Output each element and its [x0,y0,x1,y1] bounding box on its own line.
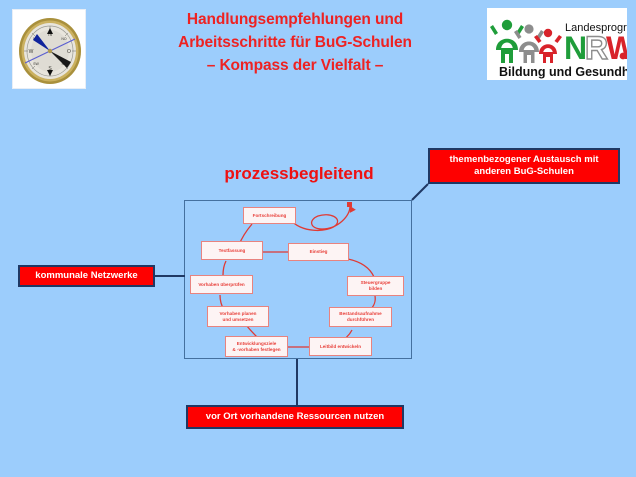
cycle-step-label: Textfassung [219,248,246,254]
cycle-step-label: Leitbild entwickeln [320,344,361,350]
cycle-step-vorhaben-planen[interactable]: Vorhaben planen und umsetzen [207,306,269,327]
cycle-step-label: Vorhaben überprüfen [198,282,244,288]
connector-left [155,275,185,277]
cycle-step-steuergruppe[interactable]: Steuergruppe bilden [347,276,404,296]
nrw-logo-icon: Landesprogramm N R W Bildung und Gesundh… [487,8,627,80]
svg-text:N: N [564,30,587,66]
svg-text:NO: NO [61,37,67,41]
svg-text:O: O [67,49,71,55]
page-title-line-2: Arbeitsschritte für BuG-Schulen [120,31,470,54]
process-label: prozessbegleitend [184,164,414,184]
callout-topic-line-1: themenbezogener Austausch mit [449,154,598,167]
callout-local-resources[interactable]: vor Ort vorhandene Ressourcen nutzen [186,405,404,429]
cycle-step-label: Einstieg [310,249,328,255]
page-title-line-1: Handlungsempfehlungen und [120,8,470,31]
cycle-step-einstieg[interactable]: Einstieg [288,243,349,261]
callout-network-label: kommunale Netzwerke [35,270,137,283]
cycle-step-label-line-2: & -vorhaben festlegen [232,347,280,353]
callout-municipal-networks[interactable]: kommunale Netzwerke [18,265,155,287]
compass-icon: N S W O NW NO SW SO [13,10,87,90]
cycle-step-bestandsaufnahme[interactable]: Bestandsaufnahme durchführen [329,307,392,327]
svg-text:R: R [585,30,608,66]
callout-topic-exchange[interactable]: themenbezogener Austausch mit anderen Bu… [428,148,620,184]
cycle-step-vorhaben-pruefen[interactable]: Vorhaben überprüfen [190,275,253,294]
page-title-line-3: – Kompass der Vielfalt – [120,54,470,77]
cycle-step-entwicklungsziele[interactable]: Entwicklungsziele & -vorhaben festlegen [225,336,288,357]
slide-canvas: N S W O NW NO SW SO Handlungsempfehlunge… [0,0,636,477]
svg-text:W: W [29,49,34,55]
nrw-logo: Landesprogramm N R W Bildung und Gesundh… [487,8,627,80]
nrw-bottom-text: Bildung und Gesundheit [499,65,627,79]
cycle-step-label-line-2: und umsetzen [223,317,254,323]
compass-logo: N S W O NW NO SW SO [12,9,86,89]
callout-topic-line-2: anderen BuG-Schulen [449,166,598,179]
svg-text:SW: SW [33,62,39,66]
cycle-step-leitbild[interactable]: Leitbild entwickeln [309,337,372,356]
page-title: Handlungsempfehlungen und Arbeitsschritt… [120,8,470,77]
connector-bottom [296,359,298,405]
connector-topic-diagonal [412,184,428,200]
callout-resources-label: vor Ort vorhandene Ressourcen nutzen [206,411,384,424]
cycle-step-label-line-2: bilden [369,286,383,292]
svg-text:W: W [606,30,627,66]
cycle-step-label-line-2: durchführen [347,317,374,323]
cycle-step-textfassung[interactable]: Textfassung [201,241,263,260]
cycle-step-fortschreibung[interactable]: Fortschreibung [243,207,296,224]
cycle-step-label: Fortschreibung [253,213,287,219]
